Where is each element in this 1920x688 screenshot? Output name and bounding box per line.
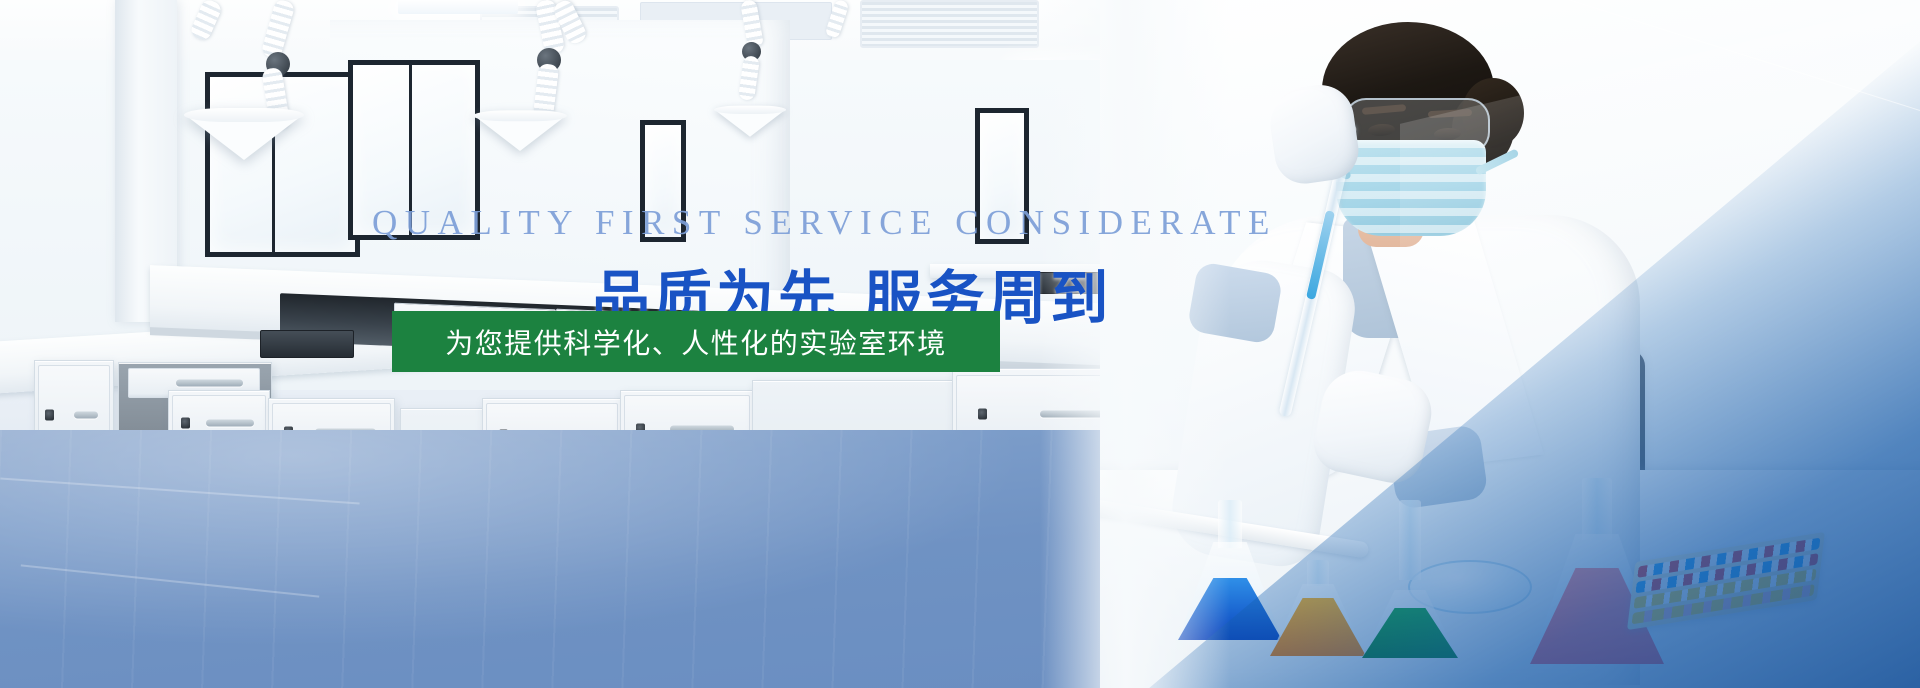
service-valve-knob — [474, 316, 494, 336]
extraction-hood — [184, 114, 304, 160]
drawer-handle — [206, 419, 254, 426]
drawer-handle — [176, 380, 244, 387]
window — [975, 108, 1029, 244]
drawer-handle — [74, 412, 98, 419]
floor-seam — [0, 477, 359, 504]
service-valve-knob — [420, 314, 440, 334]
service-valve-knob — [638, 322, 658, 342]
shirt-cuff — [1187, 261, 1284, 345]
drawer-lock-icon — [45, 410, 54, 421]
drawer-lock-icon — [181, 417, 190, 428]
flask-neck — [1218, 500, 1242, 548]
service-module — [556, 309, 718, 354]
ceiling-light-panel — [398, 0, 518, 14]
service-valve-knob — [584, 320, 604, 340]
ceiling-vent-icon — [860, 0, 1039, 48]
bench-fixture — [260, 330, 354, 358]
drawer-lock-icon — [978, 409, 987, 420]
window — [348, 60, 480, 240]
window — [640, 120, 686, 242]
floor-seam — [21, 564, 320, 597]
researcher-photo — [1100, 0, 1920, 688]
extraction-hood — [473, 115, 567, 151]
extraction-hood — [714, 109, 786, 137]
promo-banner: QUALITY FIRST SERVICE CONSIDERATE 品质为先 服… — [0, 0, 1920, 688]
laboratory-interior-photo — [0, 0, 1180, 688]
epoxy-floor — [0, 430, 1180, 688]
